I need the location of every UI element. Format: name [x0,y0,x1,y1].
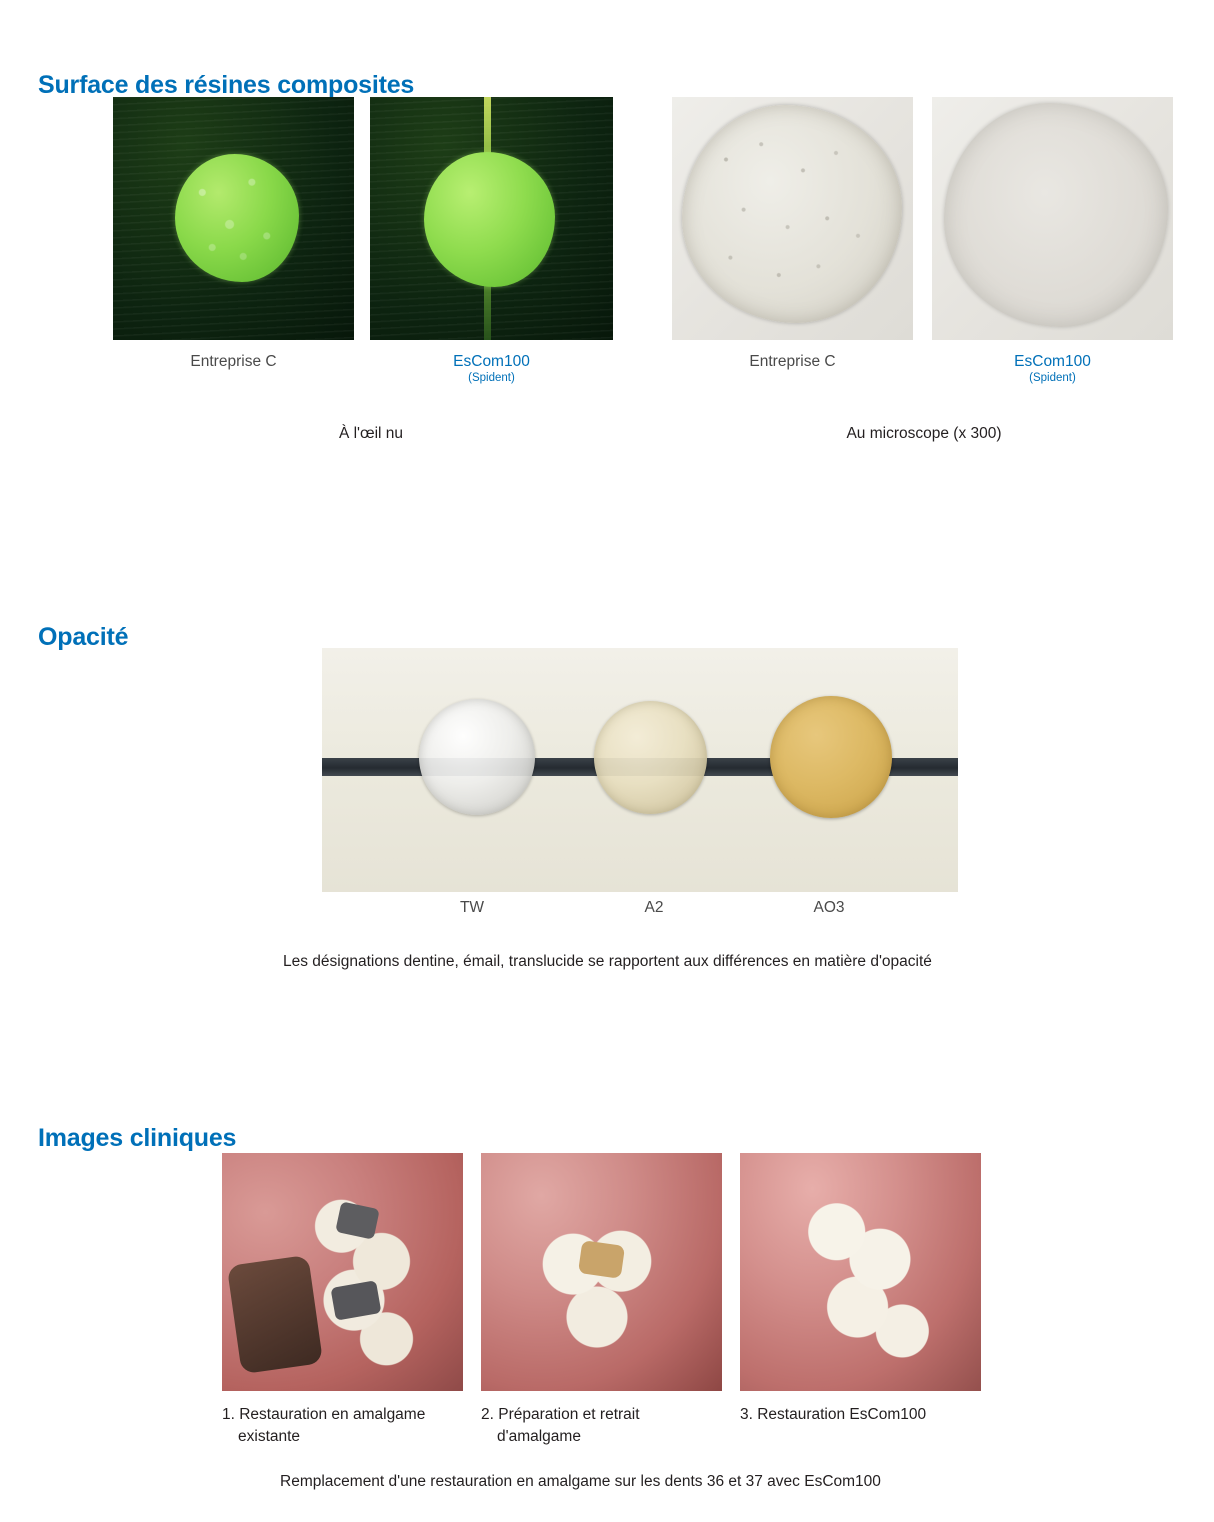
clinical-prepared-teeth [534,1220,674,1368]
opacity-disc-a2 [594,701,707,814]
group-caption-naked-eye: À l'œil nu [243,425,499,443]
caption-microscope-entreprise-c: Entreprise C [672,353,913,371]
composite-disc-entreprise-c [175,154,299,282]
opacity-note: Les désignations dentine, émail, translu… [283,953,932,971]
document-page: Surface des résines composites Entrepris… [0,0,1214,1522]
caption-line-1: 1. Restauration en amalgame [222,1406,425,1423]
caption-leaf-entreprise-c: Entreprise C [113,353,354,371]
microscope-surface-escom100 [944,103,1168,327]
caption-line-2: d'amalgame [481,1426,731,1448]
caption-line-1: 3. Restauration EsCom100 [740,1406,926,1423]
clinical-restored-teeth [798,1201,947,1372]
caption-line-1: 2. Préparation et retrait [481,1406,640,1423]
opacity-disc-ao3 [770,696,892,818]
caption-clinical-1: 1. Restauration en amalgame existante [222,1404,472,1448]
caption-text: EsCom100 [1014,353,1091,370]
photo-microscope-entreprise-c [672,97,913,340]
photo-microscope-escom100 [932,97,1173,340]
caption-leaf-escom100: EsCom100 (Spident) [370,353,613,384]
opacity-label-ao3: AO3 [769,899,889,917]
caption-clinical-3: 3. Restauration EsCom100 [740,1404,990,1426]
caption-microscope-escom100: EsCom100 (Spident) [932,353,1173,384]
photo-leaf-escom100 [370,97,613,340]
photo-clinical-2 [481,1153,722,1391]
section-title-clinical: Images cliniques [38,1124,236,1153]
opacity-disc-tw [419,699,535,815]
caption-subtext: (Spident) [370,372,613,384]
caption-subtext: (Spident) [932,372,1173,384]
composite-disc-escom100 [424,152,555,287]
photo-opacity-comparison [322,648,958,892]
opacity-label-tw: TW [412,899,532,917]
caption-line-2: existante [222,1426,472,1448]
caption-text: EsCom100 [453,353,530,370]
photo-leaf-entreprise-c [113,97,354,340]
microscope-surface-entreprise-c [682,105,902,323]
cavity-preparation [578,1241,626,1280]
caption-text: Entreprise C [190,353,276,370]
caption-clinical-2: 2. Préparation et retrait d'amalgame [481,1404,731,1448]
caption-text: Entreprise C [749,353,835,370]
photo-clinical-3 [740,1153,981,1391]
section-title-surface: Surface des résines composites [38,71,414,100]
opacity-label-a2: A2 [594,899,714,917]
clinical-note: Remplacement d'une restauration en amalg… [280,1473,881,1491]
group-caption-microscope: Au microscope (x 300) [740,425,1108,443]
photo-clinical-1 [222,1153,463,1391]
section-title-opacity: Opacité [38,623,128,652]
